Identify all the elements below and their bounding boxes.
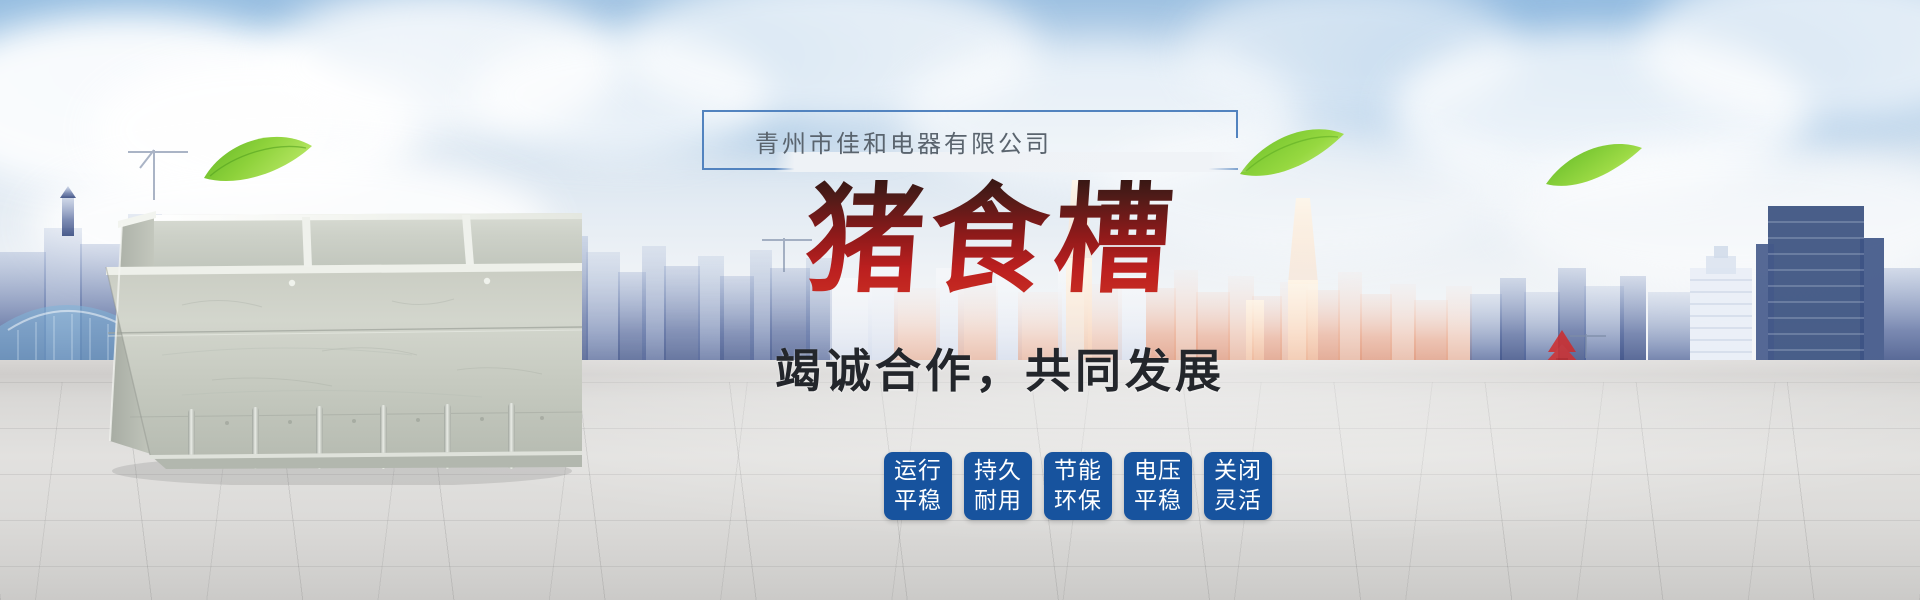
feature-badge[interactable]: 运行 平稳 [884, 452, 952, 520]
page-subtitle: 竭诚合作，共同发展 [700, 335, 1300, 401]
feature-badge-line1: 节能 [1054, 456, 1102, 486]
feature-badge-line2: 平稳 [894, 486, 942, 516]
feature-badge-line2: 平稳 [1134, 486, 1182, 516]
feature-badge[interactable]: 持久 耐用 [964, 452, 1032, 520]
feature-badge-line2: 灵活 [1214, 486, 1262, 516]
product-image-pig-feeder [62, 155, 582, 485]
feature-badge-line1: 持久 [974, 456, 1022, 486]
page-title: 猪食槽 [707, 170, 1277, 310]
feature-badge-line2: 耐用 [974, 486, 1022, 516]
feature-badge[interactable]: 节能 环保 [1044, 452, 1112, 520]
feature-badge-line1: 电压 [1134, 456, 1182, 486]
company-name: 青州市佳和电器有限公司 [755, 124, 1052, 159]
feature-badge-list: 运行 平稳 持久 耐用 节能 环保 电压 平稳 关闭 灵活 [884, 452, 1272, 520]
leaf-decoration-right [1544, 140, 1644, 192]
promotional-banner: 青州市佳和电器有限公司 猪食槽 竭诚合作，共同发展 运行 平稳 持久 耐用 节能… [0, 0, 1920, 600]
feature-badge[interactable]: 电压 平稳 [1124, 452, 1192, 520]
leaf-decoration-left [200, 132, 320, 192]
feature-badge-line1: 关闭 [1214, 456, 1262, 486]
feature-badge[interactable]: 关闭 灵活 [1204, 452, 1272, 520]
feature-badge-line1: 运行 [894, 456, 942, 486]
feature-badge-line2: 环保 [1054, 486, 1102, 516]
